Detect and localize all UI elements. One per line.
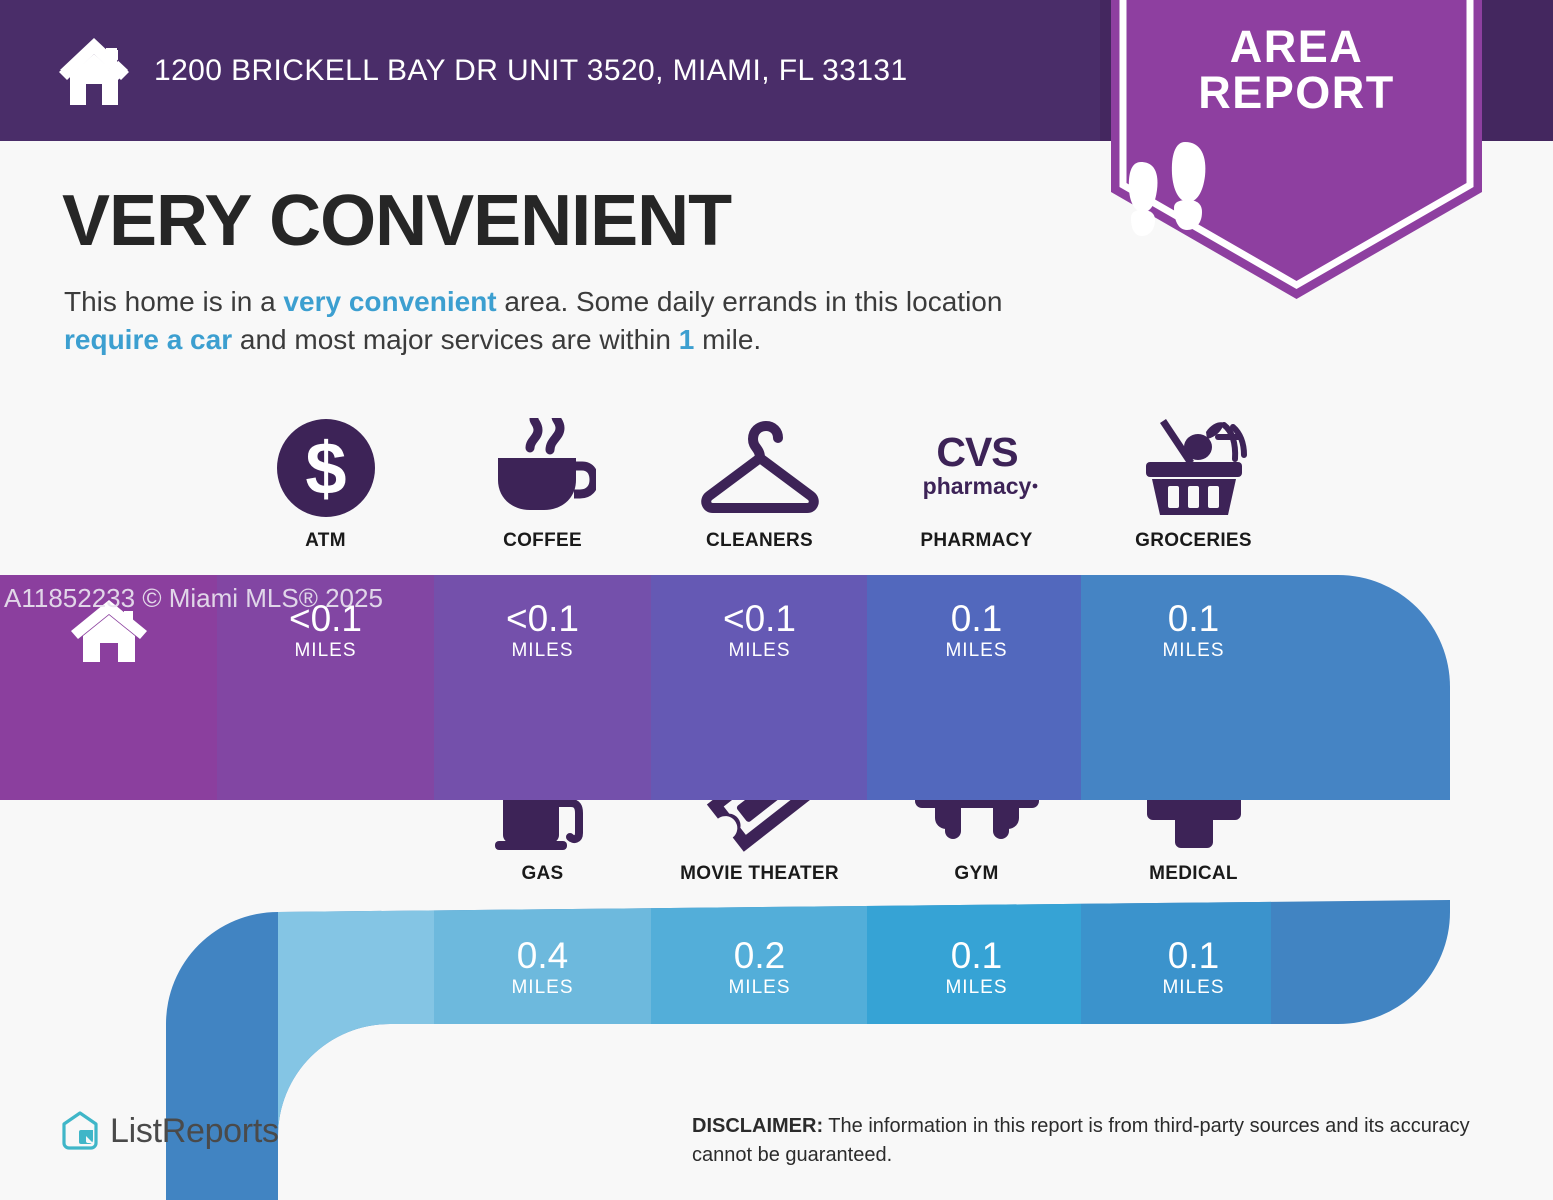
page-description: This home is in a very convenient area. … <box>64 283 1104 359</box>
amenity-cleaners: CLEANERS <box>651 415 868 552</box>
listreports-logo: ListReports <box>60 1110 279 1152</box>
distance-value: 0.4 <box>517 937 568 975</box>
amenity-atm: $ ATM <box>217 415 434 552</box>
distance-unit: MILES <box>728 977 790 999</box>
house-icon <box>58 36 130 106</box>
amenity-pharmacy: CVS pharmacy PHARMACY <box>868 415 1085 552</box>
description-text: mile. <box>694 324 761 355</box>
description-accent: 1 <box>679 324 695 355</box>
distance-unit: MILES <box>294 640 356 662</box>
mls-watermark: A11852233 © Miami MLS® 2025 <box>4 583 383 614</box>
distance-value: 0.1 <box>1168 600 1219 638</box>
distance-segment-gym: 0.1 MILES <box>868 912 1085 1024</box>
page-title: VERY CONVENIENT <box>62 182 731 260</box>
distance-segment-coffee: <0.1 MILES <box>434 575 651 687</box>
amenity-label: PHARMACY <box>920 530 1032 552</box>
distance-value: <0.1 <box>506 600 579 638</box>
cvs-pharmacy-logo: CVS pharmacy <box>912 415 1042 520</box>
distance-value: 0.1 <box>951 937 1002 975</box>
distance-value: 0.2 <box>734 937 785 975</box>
description-text: This home is in a <box>64 286 283 317</box>
disclaimer-label: DISCLAIMER: <box>692 1115 823 1137</box>
distance-unit: MILES <box>1162 640 1224 662</box>
listreports-house-tag-icon <box>60 1110 100 1152</box>
distance-unit: MILES <box>728 640 790 662</box>
coffee-cup-icon <box>490 415 596 520</box>
grocery-basket-icon <box>1136 415 1252 520</box>
distance-segment-gas: 0.4 MILES <box>434 912 651 1024</box>
distance-segment-cleaners: <0.1 MILES <box>651 575 868 687</box>
distance-segment-medical: 0.1 MILES <box>1085 912 1302 1024</box>
description-accent: very convenient <box>283 286 496 317</box>
amenity-label: COFFEE <box>503 530 582 552</box>
distance-unit: MILES <box>1162 977 1224 999</box>
description-accent: require a car <box>64 324 232 355</box>
amenity-label: ATM <box>305 530 346 552</box>
description-text: and most major services are within <box>232 324 679 355</box>
distance-value: <0.1 <box>723 600 796 638</box>
area-report-page: 1200 BRICKELL BAY DR UNIT 3520, MIAMI, F… <box>0 0 1553 1200</box>
dollar-circle-icon: $ <box>277 415 375 520</box>
footprints-icon <box>1111 140 1482 244</box>
distance-segment-groceries: 0.1 MILES <box>1085 575 1302 687</box>
header-bar: 1200 BRICKELL BAY DR UNIT 3520, MIAMI, F… <box>0 0 1100 141</box>
amenity-label: CLEANERS <box>706 530 813 552</box>
badge-title: AREA REPORT <box>1111 24 1482 116</box>
logo-text: ListReports <box>110 1112 279 1151</box>
svg-text:CVS: CVS <box>936 429 1017 475</box>
badge-line-1: AREA <box>1111 24 1482 70</box>
amenity-coffee: COFFEE <box>434 415 651 552</box>
amenity-icon-row-1: $ ATM COFFEE <box>217 415 1302 552</box>
area-report-badge: AREA REPORT <box>1111 0 1482 299</box>
clothes-hanger-icon <box>699 415 821 520</box>
distance-ribbon: <0.1 MILES <0.1 MILES <0.1 MILES 0.1 MIL… <box>0 575 1553 1200</box>
distance-value: 0.1 <box>1168 937 1219 975</box>
disclaimer: DISCLAIMER: The information in this repo… <box>692 1112 1492 1170</box>
amenity-groceries: GROCERIES <box>1085 415 1302 552</box>
svg-text:$: $ <box>305 427 346 510</box>
svg-text:pharmacy: pharmacy <box>922 473 1031 499</box>
distance-unit: MILES <box>945 640 1007 662</box>
description-text: area. Some daily errands in this locatio… <box>497 286 1003 317</box>
amenity-label: GROCERIES <box>1135 530 1252 552</box>
distance-unit: MILES <box>511 640 573 662</box>
distance-bar-row-2: 0.4 MILES 0.2 MILES 0.1 MILES 0.1 MILES <box>434 912 1302 1024</box>
distance-unit: MILES <box>945 977 1007 999</box>
distance-value: 0.1 <box>951 600 1002 638</box>
distance-segment-pharmacy: 0.1 MILES <box>868 575 1085 687</box>
property-address: 1200 BRICKELL BAY DR UNIT 3520, MIAMI, F… <box>154 54 908 88</box>
distance-unit: MILES <box>511 977 573 999</box>
distance-segment-movie-theater: 0.2 MILES <box>651 912 868 1024</box>
badge-line-2: REPORT <box>1111 70 1482 116</box>
